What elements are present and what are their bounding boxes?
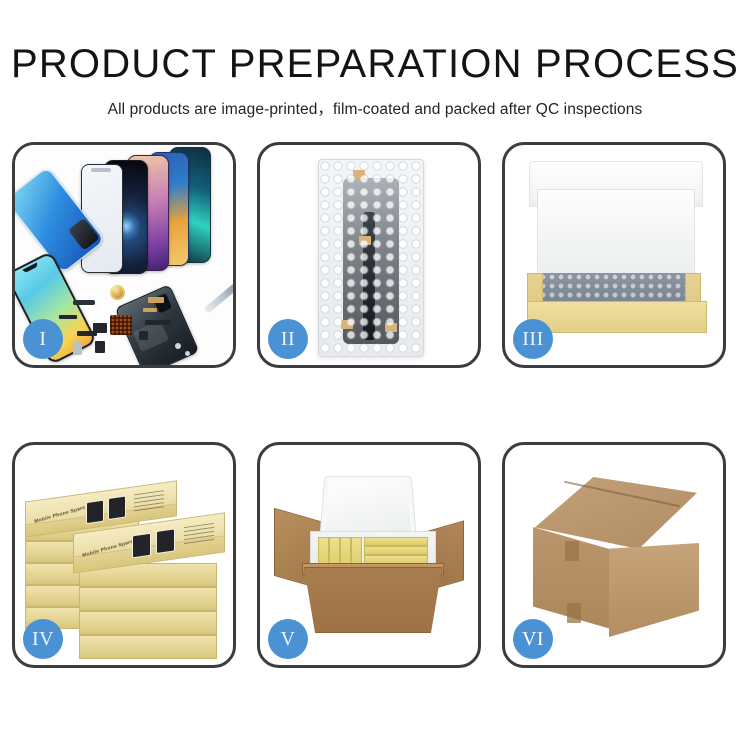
inner-box-5: [364, 537, 428, 546]
bubble-wrap-bag-icon: [318, 159, 424, 357]
box-print-phone-c: [132, 533, 151, 559]
yellow-box-front-icon: [527, 301, 707, 333]
long-flex-icon: [145, 320, 171, 325]
carton-tape-lower-icon: [567, 603, 581, 623]
flex-cable-small-icon: [143, 308, 157, 312]
box-print-phone-b: [108, 495, 126, 520]
panel-6-caption: Sealed and taped outer shipping carton: [505, 445, 506, 446]
process-step-panel-1[interactable]: Assorted mobile phone screens, displays …: [12, 142, 236, 368]
wrapped-flex-cable-icon: [363, 212, 375, 340]
stacked-box-r4: [79, 635, 217, 659]
sim-tray-icon: [73, 341, 82, 355]
process-step-panel-6[interactable]: Sealed and taped outer shipping carton V…: [502, 442, 726, 668]
carton-side-face-icon: [609, 543, 699, 637]
process-step-panel-2[interactable]: Single part sealed inside a clear bubble…: [257, 142, 481, 368]
screw-icon: [175, 343, 181, 349]
camera-ring-icon: [110, 285, 125, 300]
page-title: PRODUCT PREPARATION PROCESS: [0, 0, 750, 86]
step-badge-6: VI: [513, 619, 553, 659]
speaker-icon: [95, 341, 105, 353]
stacked-box-r3: [79, 611, 217, 635]
tape-tab-mid-icon: [359, 236, 371, 245]
page-subtitle: All products are image-printed，film-coat…: [0, 86, 750, 119]
foam-sheet-icon: [537, 189, 695, 277]
tape-tab-bottom-left-icon: [341, 320, 353, 329]
carton-tape-upper-icon: [565, 541, 579, 561]
ribbon-icon: [77, 331, 97, 336]
panel-2-caption: Single part sealed inside a clear bubble…: [260, 145, 261, 146]
box-print-textlines-back: [134, 490, 164, 512]
panel-5-caption: Boxes loaded into an outer carton with p…: [260, 445, 261, 446]
step-badge-1: I: [23, 319, 63, 359]
tape-tab-bottom-right-icon: [385, 323, 397, 332]
step-badge-2: II: [268, 319, 308, 359]
box-print-textlines-front: [184, 523, 214, 545]
flex-cable-gold-icon: [148, 297, 164, 303]
box-print-phone-a: [86, 500, 104, 525]
tape-tab-top-icon: [353, 170, 365, 179]
inner-box-6: [364, 546, 428, 555]
panel-4-caption: Stack of printed yellow kraft retail box…: [15, 445, 16, 446]
foam-lid-open-icon: [319, 476, 416, 538]
box-print-phone-d: [156, 528, 175, 554]
stacked-box-r2: [79, 587, 217, 611]
antenna-strip-icon: [59, 315, 77, 319]
process-step-grid: Assorted mobile phone screens, displays …: [12, 142, 740, 668]
process-step-panel-4[interactable]: Mobile Phone Spare Parts Mobile Phone Sp…: [12, 442, 236, 668]
step-badge-3: III: [513, 319, 553, 359]
process-step-panel-5[interactable]: Boxes loaded into an outer carton with p…: [257, 442, 481, 668]
step-badge-5: V: [268, 619, 308, 659]
carton-body-icon: [304, 567, 442, 633]
part-strip-icon: [73, 300, 95, 305]
process-step-panel-3[interactable]: Bubble-wrapped part placed in a yellow k…: [502, 142, 726, 368]
panel-3-caption: Bubble-wrapped part placed in a yellow k…: [505, 145, 506, 146]
step-badge-4: IV: [23, 619, 63, 659]
vibration-motor-icon: [139, 331, 148, 340]
copper-shield-icon: [110, 315, 132, 335]
page-header: PRODUCT PREPARATION PROCESS All products…: [0, 0, 750, 119]
screw-small-icon: [185, 351, 190, 356]
